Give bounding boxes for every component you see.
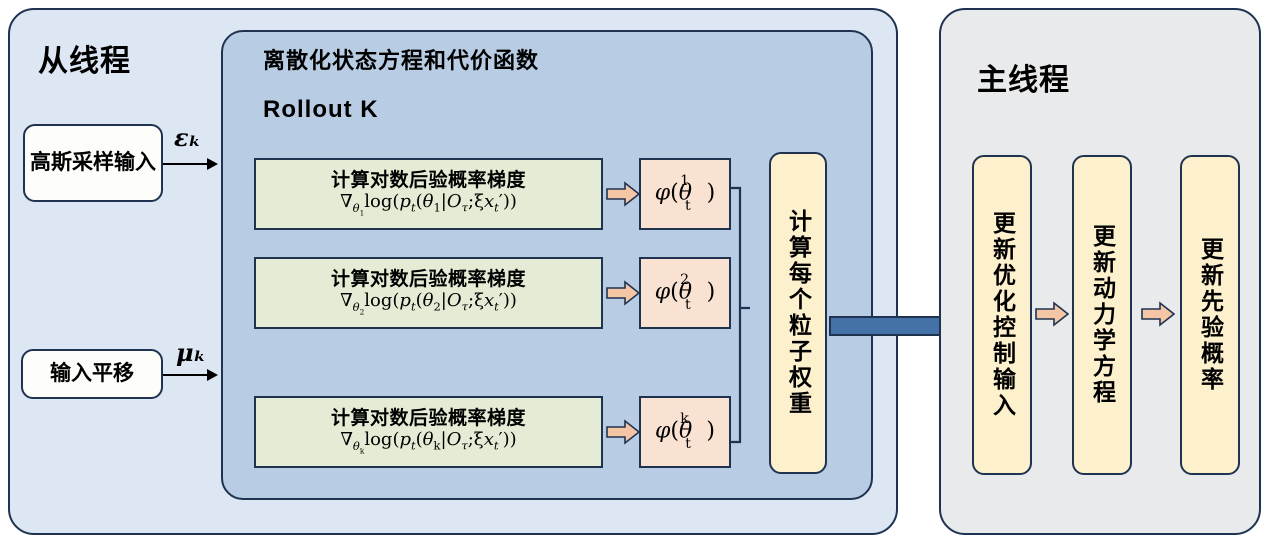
phi-box-1-label: φ(θt1) (655, 179, 715, 209)
mu-arrow-label: μₖ (176, 338, 206, 367)
main-thread-title: 主线程 (977, 55, 1070, 99)
gradient-box-2-formula: ∇θ2log(pt(θ2|Oτ;ξxt′)) (340, 292, 517, 316)
gradient-box-3-formula: ∇θklog(pt(θk|Oτ;ξxt′)) (340, 431, 516, 455)
phi-box-2[interactable]: φ(θt2) (639, 257, 731, 329)
input-shift-label: 输入平移 (50, 361, 134, 387)
gaussian-sampling-input-label: 高斯采样输入 (30, 150, 156, 176)
brace-connector-icon (728, 186, 762, 444)
orange-right-arrow-icon-3 (606, 419, 640, 445)
gradient-box-2[interactable]: 计算对数后验概率梯度 ∇θ2log(pt(θ2|Oτ;ξxt′)) (254, 257, 603, 329)
phi-box-3-label: φ(θtk) (655, 417, 715, 447)
phi-box-2-label: φ(θt2) (655, 278, 715, 308)
mu-arrow-icon (163, 374, 216, 376)
rollout-panel-title-en: Rollout K (263, 96, 379, 124)
phi-box-3[interactable]: φ(θtk) (639, 396, 731, 468)
gradient-box-1-title: 计算对数后验概率梯度 (331, 171, 526, 191)
update-prior-probability-box[interactable]: 更新先验概率 (1180, 155, 1240, 475)
gradient-box-1[interactable]: 计算对数后验概率梯度 ∇θ1log(pt(θ1|Oτ;ξxt′)) (254, 158, 603, 230)
update-dynamics-equation-box[interactable]: 更新动力学方程 (1072, 155, 1132, 475)
orange-right-arrow-icon-5 (1141, 301, 1175, 327)
rollout-panel-title-cn: 离散化状态方程和代价函数 (263, 43, 539, 75)
update-dynamics-equation-label: 更新动力学方程 (1091, 224, 1114, 406)
gradient-box-3[interactable]: 计算对数后验概率梯度 ∇θklog(pt(θk|Oτ;ξxt′)) (254, 396, 603, 468)
gaussian-sampling-input-box[interactable]: 高斯采样输入 (23, 124, 163, 202)
orange-right-arrow-icon-1 (606, 181, 640, 207)
slave-thread-title: 从线程 (38, 36, 131, 80)
gradient-box-3-title: 计算对数后验概率梯度 (331, 409, 526, 429)
particle-weight-box[interactable]: 计算每个粒子权重 (769, 152, 827, 474)
epsilon-arrow-label: εₖ (174, 123, 201, 152)
input-shift-box[interactable]: 输入平移 (21, 349, 163, 399)
orange-right-arrow-icon-4 (1035, 301, 1069, 327)
diagram-canvas: 从线程 高斯采样输入 εₖ 输入平移 μₖ 离散化状态方程和代价函数 Rollo… (0, 0, 1269, 543)
update-control-input-label: 更新优化控制输入 (991, 211, 1014, 419)
phi-box-1[interactable]: φ(θt1) (639, 158, 731, 230)
particle-weight-label: 计算每个粒子权重 (787, 209, 810, 417)
gradient-box-2-title: 计算对数后验概率梯度 (331, 270, 526, 290)
epsilon-arrow-icon (163, 163, 216, 165)
gradient-box-1-formula: ∇θ1log(pt(θ1|Oτ;ξxt′)) (340, 193, 517, 217)
update-prior-probability-label: 更新先验概率 (1199, 237, 1222, 393)
update-control-input-box[interactable]: 更新优化控制输入 (972, 155, 1032, 475)
orange-right-arrow-icon-2 (606, 280, 640, 306)
